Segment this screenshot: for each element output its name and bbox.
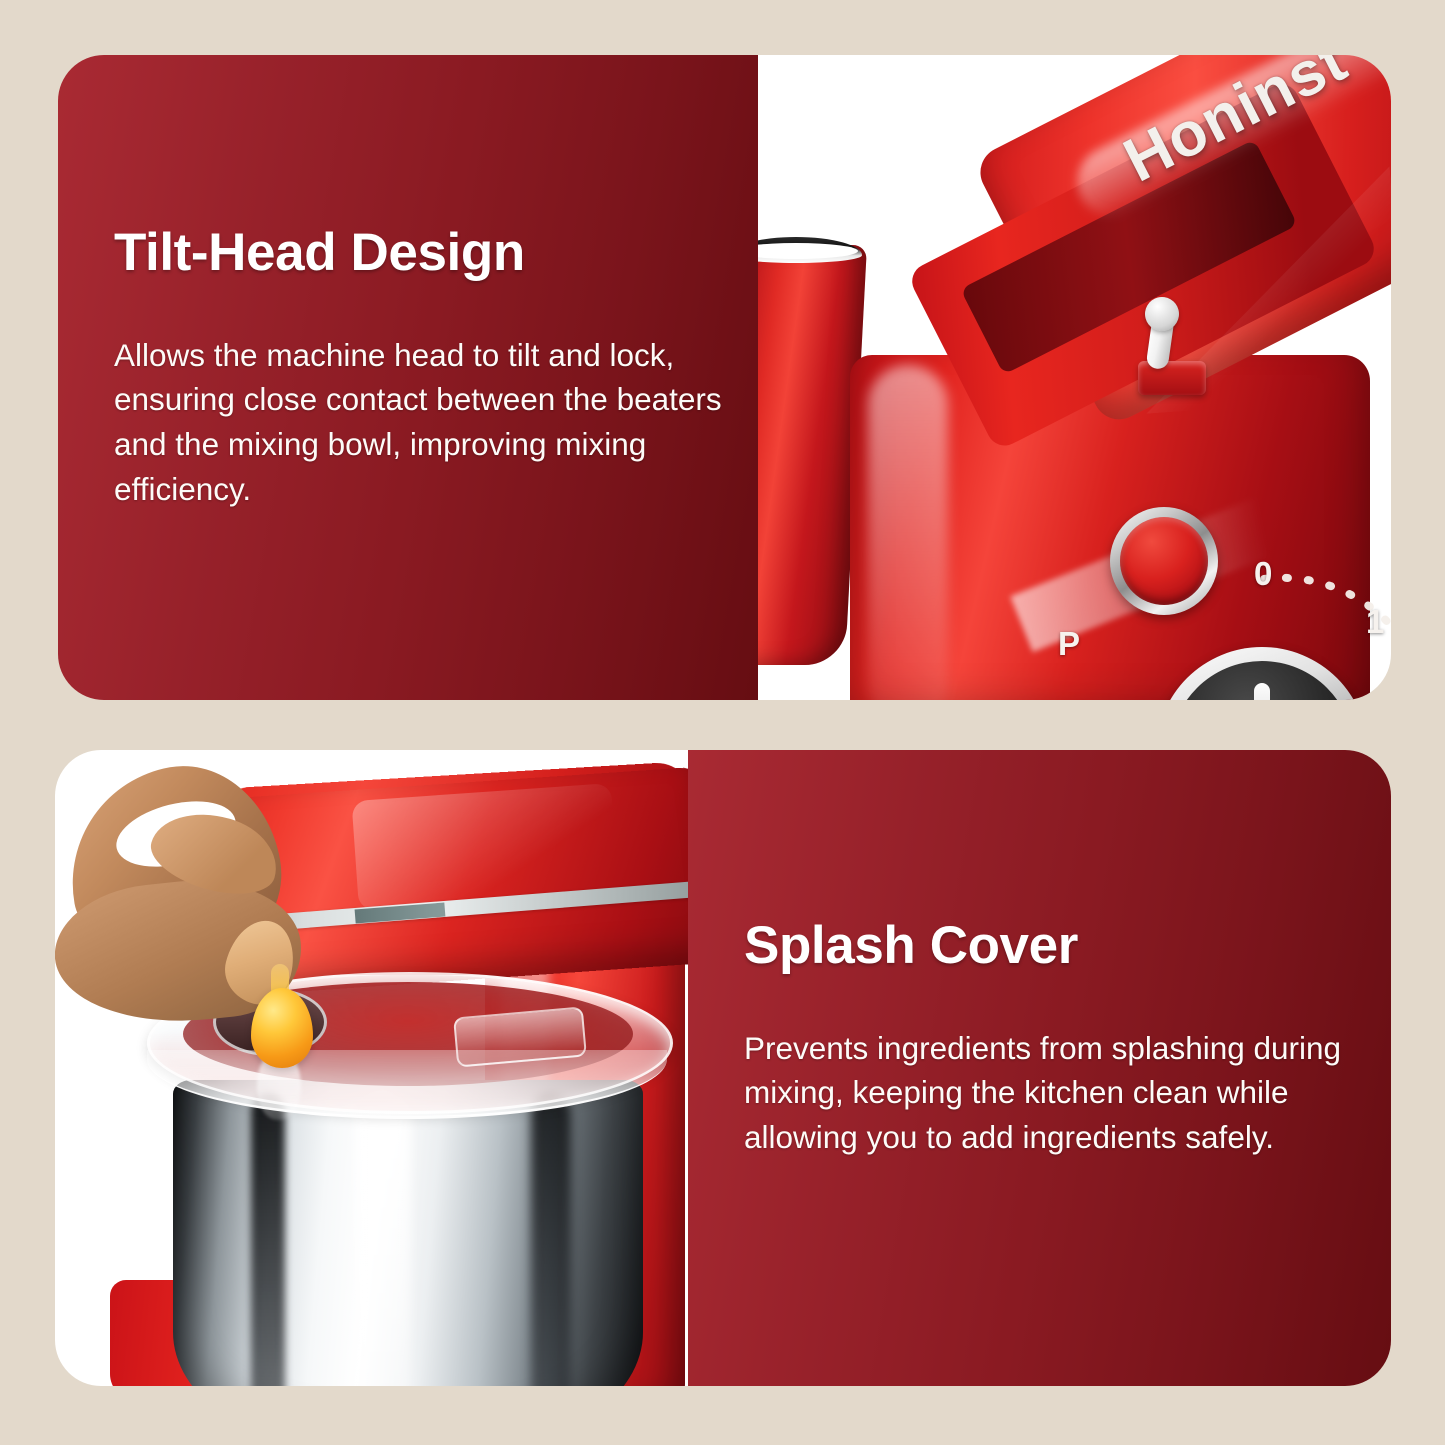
bowl-reflection-dark-right <box>531 1094 571 1386</box>
base-gloss-highlight <box>868 365 948 700</box>
speed-dial-pointer-icon <box>1254 683 1270 700</box>
splash-cover-headline: Splash Cover <box>744 918 1391 974</box>
dial-label-1: 1 <box>1366 603 1384 641</box>
feature-collage: Tilt-Head Design Allows the machine head… <box>0 0 1445 1445</box>
splash-cover-body: Prevents ingredients from splashing duri… <box>744 1026 1364 1160</box>
bowl-reflection-highlight <box>355 1094 411 1386</box>
tilt-head-headline: Tilt-Head Design <box>114 225 758 281</box>
dial-label-0: 0 <box>1254 555 1272 593</box>
splash-cover-photo <box>55 750 688 1386</box>
tilt-head-text-block: Tilt-Head Design Allows the machine head… <box>58 55 758 700</box>
dial-label-pulse: P <box>1058 625 1080 663</box>
tilt-head-photo: Honinst P 0 1 2 <box>758 55 1391 700</box>
feature-panel-tilt-head: Tilt-Head Design Allows the machine head… <box>58 55 1391 700</box>
lock-lever-housing <box>1138 361 1206 395</box>
tilt-head-body: Allows the machine head to tilt and lock… <box>114 333 734 512</box>
splash-cover-text-block: Splash Cover Prevents ingredients from s… <box>688 750 1391 1386</box>
release-button[interactable] <box>1120 517 1208 605</box>
bowl-reflection-dark-left <box>251 1094 285 1386</box>
feature-panel-splash-cover: Splash Cover Prevents ingredients from s… <box>55 750 1391 1386</box>
